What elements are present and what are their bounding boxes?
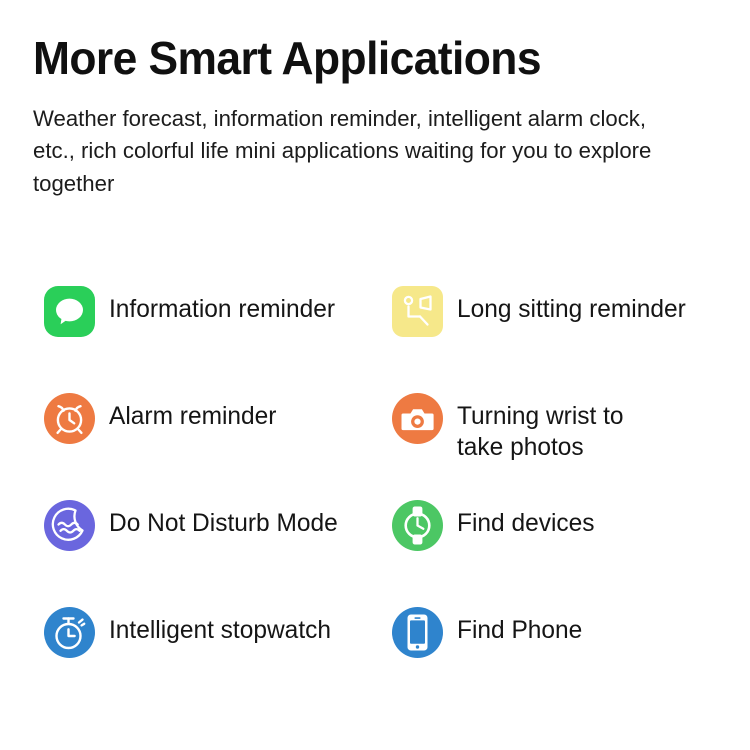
message-bubble-icon xyxy=(44,286,95,337)
camera-icon xyxy=(392,393,443,444)
feature-item-find-phone[interactable]: Find Phone xyxy=(392,607,585,658)
feature-row: Information reminder Long sitting remi xyxy=(0,286,750,393)
sitting-person-icon xyxy=(392,286,443,337)
feature-row: Do Not Disturb Mode Find devices xyxy=(0,500,750,607)
feature-item-find-devices[interactable]: Find devices xyxy=(392,500,597,551)
page-title: More Smart Applications xyxy=(33,34,699,83)
feature-item-information-reminder[interactable]: Information reminder xyxy=(44,286,340,337)
feature-row: Intelligent stopwatch Find Phone xyxy=(0,607,750,714)
feature-label: Information reminder xyxy=(109,286,335,325)
feature-item-long-sitting-reminder[interactable]: Long sitting reminder xyxy=(392,286,690,337)
feature-label: Alarm reminder xyxy=(109,393,276,432)
feature-item-intelligent-stopwatch[interactable]: Intelligent stopwatch xyxy=(44,607,336,658)
feature-label: Intelligent stopwatch xyxy=(109,607,331,646)
feature-row: Alarm reminder Turning wrist to take pho… xyxy=(0,393,750,500)
page-subtitle: Weather forecast, information reminder, … xyxy=(33,103,673,201)
smart-applications-page: More Smart Applications Weather forecast… xyxy=(0,0,750,750)
page-header: More Smart Applications Weather forecast… xyxy=(33,34,723,201)
alarm-clock-icon xyxy=(44,393,95,444)
crescent-moon-icon xyxy=(44,500,95,551)
wristwatch-icon xyxy=(392,500,443,551)
smartphone-icon xyxy=(392,607,443,658)
feature-label: Find Phone xyxy=(457,607,582,646)
stopwatch-icon xyxy=(44,607,95,658)
feature-label: Long sitting reminder xyxy=(457,286,686,325)
feature-label: Turning wrist to take photos xyxy=(457,393,624,463)
feature-list: Information reminder Long sitting remi xyxy=(0,286,750,714)
feature-item-turning-wrist-to-take-photos[interactable]: Turning wrist to take photos xyxy=(392,393,627,463)
feature-label: Do Not Disturb Mode xyxy=(109,500,338,539)
feature-item-alarm-reminder[interactable]: Alarm reminder xyxy=(44,393,280,444)
feature-item-do-not-disturb-mode[interactable]: Do Not Disturb Mode xyxy=(44,500,342,551)
feature-label: Find devices xyxy=(457,500,595,539)
